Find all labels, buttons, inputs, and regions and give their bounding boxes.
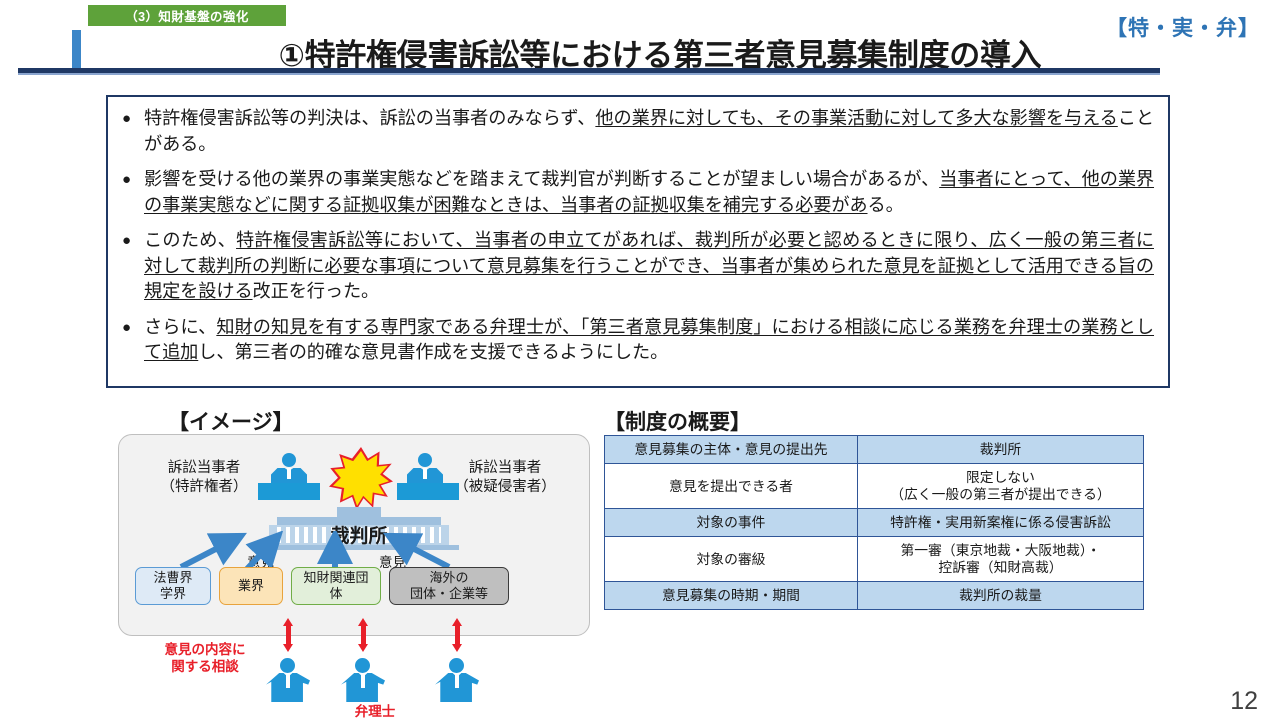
bullet-seg: このため、 xyxy=(144,230,236,250)
person-head-icon xyxy=(355,658,370,673)
consult-label-line2: 関する相談 xyxy=(150,658,260,675)
source-box-overseas: 海外の 団体・企業等 xyxy=(389,567,509,605)
person-head-icon xyxy=(449,658,464,673)
diagram-panel: 訴訟当事者 （特許権者） 訴訟当事者 （被疑侵害者） xyxy=(118,434,590,636)
bullet-seg: 特許権侵害訴訟等の判決は、訴訟の当事者のみならず、 xyxy=(144,108,595,128)
source-box-ip-orgs: 知財関連団 体 xyxy=(291,567,381,605)
table-cell-value-line2: 控訴審（知財高裁） xyxy=(862,559,1139,576)
bullet-seg: る。 xyxy=(868,195,904,215)
bullet-text: さらに、知財の知見を有する専門家である弁理士が、「第三者意見募集制度」における相… xyxy=(144,315,1154,366)
table-cell-value: 限定しない （広く一般の第三者が提出できる） xyxy=(858,464,1144,509)
spec-table-heading: 【制度の概要】 xyxy=(604,406,751,436)
table-cell-value: 裁判所 xyxy=(858,436,1144,464)
arrow-head-down-icon xyxy=(452,644,462,652)
table-row: 対象の審級 第一審（東京地裁・大阪地裁）・ 控訴審（知財高裁） xyxy=(605,537,1144,582)
source-box-line1: 法曹界 xyxy=(153,570,192,586)
consult-arrow-ip-orgs xyxy=(358,618,369,652)
bullet-seg-underlined: 他の業界に対しても、その事業活動に対して多大な影響を与える xyxy=(595,108,1117,128)
table-cell-value-line2: （広く一般の第三者が提出できる） xyxy=(862,486,1139,503)
spec-table: 意見募集の主体・意見の提出先 裁判所 意見を提出できる者 限定しない （広く一般… xyxy=(604,435,1144,610)
section-chip: （3）知財基盤の強化 xyxy=(88,5,286,26)
patent-attorney-icon xyxy=(435,658,479,702)
arrow-shaft xyxy=(361,625,366,645)
person-tie-icon xyxy=(423,468,427,479)
bullet-seg: し、第三者の的確な意見書作成を支援できるようにした。 xyxy=(198,342,668,362)
bullet-text: 影響を受ける他の業界の事業実態などを踏まえて裁判官が判断することが望ましい場合が… xyxy=(144,167,1154,218)
page-number: 12 xyxy=(1230,687,1258,716)
table-cell-value: 特許権・実用新案権に係る侵害訴訟 xyxy=(858,509,1144,537)
party-left-line1: 訴訟当事者 xyxy=(139,459,269,478)
source-box-line2: 学界 xyxy=(153,586,192,602)
source-box-line1: 知財関連団 xyxy=(303,570,368,586)
table-cell-value-line1: 第一審（東京地裁・大阪地裁）・ xyxy=(862,542,1139,559)
patent-attorney-label: 弁理士 xyxy=(330,700,420,720)
slide-root: （3）知財基盤の強化 【特・実・弁】 ①特許権侵害訴訟等における第三者意見募集制… xyxy=(0,0,1280,720)
person-tie-icon xyxy=(361,674,365,688)
party-left-label: 訴訟当事者 （特許権者） xyxy=(139,459,269,497)
table-row: 意見を提出できる者 限定しない （広く一般の第三者が提出できる） xyxy=(605,464,1144,509)
person-head-icon xyxy=(280,658,295,673)
bullet-marker-icon: ● xyxy=(122,228,144,305)
courthouse-roof-icon xyxy=(337,507,381,517)
table-cell-key: 対象の事件 xyxy=(605,509,858,537)
summary-box: ● 特許権侵害訴訟等の判決は、訴訟の当事者のみならず、他の業界に対しても、その事… xyxy=(106,95,1170,388)
bullet-marker-icon: ● xyxy=(122,106,144,157)
bullet-item: ● 特許権侵害訴訟等の判決は、訴訟の当事者のみならず、他の業界に対しても、その事… xyxy=(122,106,1154,157)
table-cell-value-line1: 限定しない xyxy=(862,469,1139,486)
bullet-item: ● さらに、知財の知見を有する専門家である弁理士が、「第三者意見募集制度」におけ… xyxy=(122,315,1154,366)
consult-arrow-industry xyxy=(283,618,294,652)
arrow-overseas xyxy=(391,537,449,567)
desk-right-icon xyxy=(397,483,459,500)
desk-left-icon xyxy=(258,483,320,500)
bullet-text: 特許権侵害訴訟等の判決は、訴訟の当事者のみならず、他の業界に対しても、その事業活… xyxy=(144,106,1154,157)
arrow-head-down-icon xyxy=(358,644,368,652)
person-head-icon xyxy=(418,453,432,467)
table-cell-key: 対象の審級 xyxy=(605,537,858,582)
arrow-industry xyxy=(247,537,277,569)
bullet-seg: さらに、 xyxy=(144,317,216,337)
bullet-seg: 改正を行った。 xyxy=(253,281,380,301)
source-box-industry: 業界 xyxy=(219,567,283,605)
bullet-item: ● このため、特許権侵害訴訟等において、当事者の申立てがあれば、裁判所が必要と認… xyxy=(122,228,1154,305)
table-cell-key: 意見募集の時期・期間 xyxy=(605,582,858,610)
patent-attorney-icon xyxy=(266,658,310,702)
source-box-law-academia: 法曹界 学界 xyxy=(135,567,211,605)
arrow-shaft xyxy=(286,625,291,645)
table-row: 対象の事件 特許権・実用新案権に係る侵害訴訟 xyxy=(605,509,1144,537)
consult-arrow-overseas xyxy=(452,618,463,652)
table-cell-value: 裁判所の裁量 xyxy=(858,582,1144,610)
person-tie-icon xyxy=(455,674,459,688)
diagram-heading: 【イメージ】 xyxy=(168,406,294,436)
bullet-item: ● 影響を受ける他の業界の事業実態などを踏まえて裁判官が判断することが望ましい場… xyxy=(122,167,1154,218)
person-head-icon xyxy=(282,453,296,467)
table-cell-value: 第一審（東京地裁・大阪地裁）・ 控訴審（知財高裁） xyxy=(858,537,1144,582)
person-tie-icon xyxy=(287,468,291,479)
bullet-text: このため、特許権侵害訴訟等において、当事者の申立てがあれば、裁判所が必要と認める… xyxy=(144,228,1154,305)
title-divider-light xyxy=(18,73,1160,75)
arrow-law-academia xyxy=(181,537,239,567)
bullet-seg: 影響を受ける他の業界の事業実態などを踏まえて裁判官が判断することが望ましい場合が… xyxy=(144,169,939,189)
bullet-marker-icon: ● xyxy=(122,167,144,218)
table-row: 意見募集の主体・意見の提出先 裁判所 xyxy=(605,436,1144,464)
consult-label-line1: 意見の内容に xyxy=(150,641,260,658)
bullet-marker-icon: ● xyxy=(122,315,144,366)
party-left-line2: （特許権者） xyxy=(139,478,269,497)
arrow-shaft xyxy=(455,625,460,645)
source-box-line1: 業界 xyxy=(238,578,264,594)
arrow-head-down-icon xyxy=(283,644,293,652)
party-right-line1: 訴訟当事者 xyxy=(435,459,575,478)
source-box-line2: 団体・企業等 xyxy=(410,586,488,602)
person-tie-icon xyxy=(286,674,290,688)
table-cell-key: 意見を提出できる者 xyxy=(605,464,858,509)
source-box-line1: 海外の xyxy=(410,570,488,586)
consult-label: 意見の内容に 関する相談 xyxy=(150,641,260,675)
patent-attorney-icon xyxy=(341,658,385,702)
table-cell-key: 意見募集の主体・意見の提出先 xyxy=(605,436,858,464)
table-row: 意見募集の時期・期間 裁判所の裁量 xyxy=(605,582,1144,610)
source-box-line2: 体 xyxy=(303,586,368,602)
